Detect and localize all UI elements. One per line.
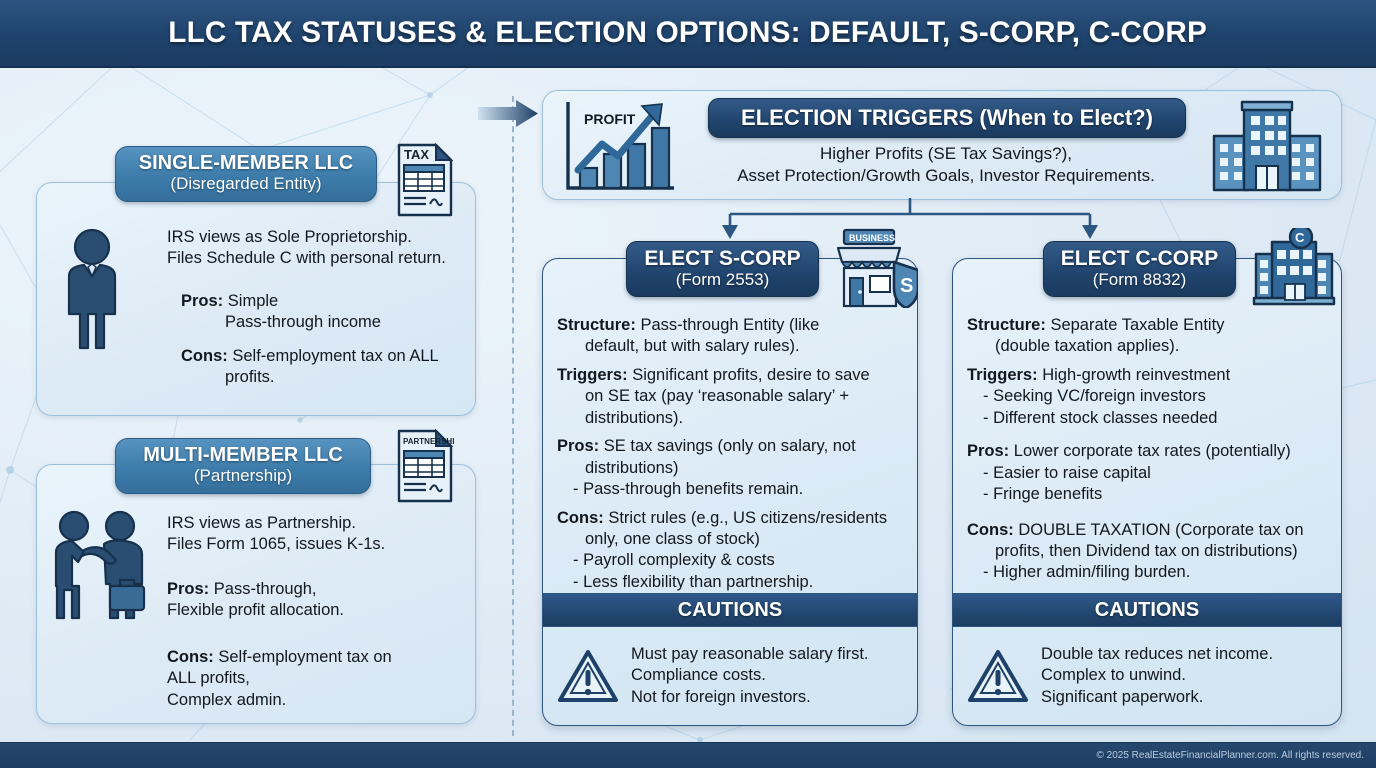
storefront-sign-label: BUSINESS (849, 233, 895, 243)
elect-c-corp-header: ELECT C-CORP (Form 8832) (1043, 241, 1236, 297)
c-corp-pros-line2: - Easier to raise capital (995, 463, 1151, 484)
s-corp-caution-2: Compliance costs. (631, 665, 869, 686)
c-corp-structure-line2: (double taxation applies). (995, 336, 1179, 357)
handshake-icon (48, 508, 158, 628)
elect-s-corp-card[interactable]: Structure: Pass-through Entity (like def… (542, 258, 918, 726)
s-corp-pros-row: Pros: SE tax savings (only on salary, no… (557, 436, 913, 500)
multi-member-desc-line1: IRS views as Partnership. (167, 513, 467, 534)
s-corp-cons-line4: - Less flexibility than partnership. (585, 572, 813, 593)
c-corp-cautions-title: CAUTIONS (1095, 599, 1199, 622)
single-member-pros-line2: Pass-through income (167, 312, 472, 333)
flow-arrow-right-icon (478, 98, 542, 132)
c-corp-triggers-line1: High-growth reinvestment (1042, 366, 1230, 384)
c-corp-structure-label: Structure: (967, 316, 1046, 334)
multi-member-subtitle: (Partnership) (194, 466, 292, 486)
c-corp-triggers-label: Triggers: (967, 366, 1038, 384)
c-corp-caution-1: Double tax reduces net income. (1041, 644, 1273, 665)
triggers-line1: Higher Profits (SE Tax Savings?), (711, 143, 1181, 165)
c-corp-triggers-line3: - Different stock classes needed (995, 408, 1217, 429)
c-corp-pros-label: Pros: (967, 442, 1009, 460)
s-corp-triggers-label: Triggers: (557, 366, 628, 384)
s-corp-cons-line3: - Payroll complexity & costs (585, 550, 775, 571)
elect-c-corp-card[interactable]: Structure: Separate Taxable Entity (doub… (952, 258, 1342, 726)
c-corp-pros-line3: - Fringe benefits (995, 484, 1102, 505)
multi-member-title: MULTI-MEMBER LLC (143, 445, 343, 466)
s-corp-cautions-title: CAUTIONS (678, 599, 782, 622)
tax-document-icon: TAX (396, 142, 454, 218)
c-corp-content: Structure: Separate Taxable Entity (doub… (967, 315, 1337, 591)
c-corp-subtitle: (Form 8832) (1093, 270, 1187, 290)
page-title: LLC TAX STATUSES & ELECTION OPTIONS: DEF… (169, 16, 1208, 50)
office-building-icon (1208, 100, 1326, 192)
s-corp-structure-label: Structure: (557, 316, 636, 334)
single-member-cons-line2: profits. (167, 367, 477, 388)
business-storefront-shield-s-icon: BUSINESS S (832, 228, 918, 308)
multi-member-cons-label: Cons: (167, 648, 214, 666)
s-corp-cons-line2: only, one class of stock) (585, 529, 760, 550)
c-corp-cautions-header: CAUTIONS (953, 593, 1341, 627)
s-corp-shield-letter: S (900, 275, 913, 297)
s-corp-triggers-line3: distributions). (585, 408, 683, 429)
elect-s-corp-header: ELECT S-CORP (Form 2553) (626, 241, 819, 297)
s-corp-triggers-line2: on SE tax (pay ‘reasonable salary’ + (585, 386, 849, 407)
c-corp-structure-row: Structure: Separate Taxable Entity (doub… (967, 315, 1337, 358)
s-corp-triggers-row: Triggers: Significant profits, desire to… (557, 365, 913, 429)
corporate-building-c-icon: C (1252, 228, 1336, 306)
single-member-cons-label: Cons: (181, 347, 228, 365)
c-corp-cons-line1: DOUBLE TAXATION (Corporate tax on (1018, 521, 1303, 539)
s-corp-subtitle: (Form 2553) (676, 270, 770, 290)
partnership-document-icon: PARTNERSHIP (396, 428, 454, 504)
c-corp-cons-line3: - Higher admin/filing burden. (995, 562, 1190, 583)
multi-member-cons: Cons: Self-employment tax on ALL profits… (167, 647, 472, 711)
multi-member-cons-line1: Self-employment tax on (218, 648, 391, 666)
multi-member-pros-line1: Pass-through, (214, 580, 317, 598)
c-corp-pros-line1: Lower corporate tax rates (potentially) (1014, 442, 1291, 460)
multi-member-cons-line3: Complex admin. (167, 690, 472, 711)
c-corp-title: ELECT C-CORP (1061, 248, 1219, 270)
s-corp-caution-3: Not for foreign investors. (631, 687, 869, 708)
s-corp-cautions-list: Must pay reasonable salary first. Compli… (631, 644, 869, 708)
s-corp-cons-row: Cons: Strict rules (e.g., US citizens/re… (557, 508, 913, 594)
s-corp-triggers-line1: Significant profits, desire to save (632, 366, 870, 384)
multi-member-pros-line2: Flexible profit allocation. (167, 600, 467, 621)
c-corp-structure-line1: Separate Taxable Entity (1050, 316, 1224, 334)
single-member-title: SINGLE-MEMBER LLC (139, 153, 353, 174)
page-header: LLC TAX STATUSES & ELECTION OPTIONS: DEF… (0, 0, 1376, 68)
single-member-pros-label: Pros: (181, 292, 223, 310)
s-corp-content: Structure: Pass-through Entity (like def… (557, 315, 913, 600)
profit-chart-label: PROFIT (584, 111, 636, 127)
single-person-icon (56, 228, 128, 352)
c-corp-cons-row: Cons: DOUBLE TAXATION (Corporate tax on … (967, 520, 1337, 584)
s-corp-pros-line3: - Pass-through benefits remain. (585, 479, 803, 500)
election-triggers-header: ELECTION TRIGGERS (When to Elect?) (708, 98, 1186, 138)
s-corp-cautions-body: Must pay reasonable salary first. Compli… (543, 627, 917, 725)
s-corp-title: ELECT S-CORP (644, 248, 800, 270)
single-member-subtitle: (Disregarded Entity) (170, 174, 321, 194)
c-corp-cons-label: Cons: (967, 521, 1014, 539)
c-corp-cautions-body: Double tax reduces net income. Complex t… (953, 627, 1341, 725)
s-corp-cons-label: Cons: (557, 509, 604, 527)
c-corp-caution-2: Complex to unwind. (1041, 665, 1273, 686)
multi-member-pros-label: Pros: (167, 580, 209, 598)
triggers-description: Higher Profits (SE Tax Savings?), Asset … (711, 143, 1181, 187)
election-triggers-title: ELECTION TRIGGERS (When to Elect?) (741, 105, 1153, 131)
single-member-llc-header: SINGLE-MEMBER LLC (Disregarded Entity) (115, 146, 377, 202)
multi-member-desc-line2: Files Form 1065, issues K-1s. (167, 534, 467, 555)
s-corp-structure-line1: Pass-through Entity (like (640, 316, 819, 334)
c-corp-cons-line2: profits, then Dividend tax on distributi… (995, 541, 1298, 562)
s-corp-structure-line2: default, but with salary rules). (585, 336, 800, 357)
single-member-description: IRS views as Sole Proprietorship. Files … (167, 227, 467, 270)
s-corp-cautions-header: CAUTIONS (543, 593, 917, 627)
s-corp-caution-1: Must pay reasonable salary first. (631, 644, 869, 665)
s-corp-structure-row: Structure: Pass-through Entity (like def… (557, 315, 913, 358)
c-corp-triggers-row: Triggers: High-growth reinvestment - See… (967, 365, 1337, 429)
s-corp-pros-label: Pros: (557, 437, 599, 455)
single-member-cons: Cons: Self-employment tax on ALL profits… (167, 346, 477, 389)
page-footer: © 2025 RealEstateFinancialPlanner.com. A… (0, 742, 1376, 768)
s-corp-cons-line1: Strict rules (e.g., US citizens/resident… (608, 509, 887, 527)
footer-copyright: © 2025 RealEstateFinancialPlanner.com. A… (1096, 750, 1376, 761)
multi-member-description: IRS views as Partnership. Files Form 106… (167, 513, 467, 556)
c-corp-badge-letter: C (1295, 230, 1305, 245)
single-member-desc-line2: Files Schedule C with personal return. (167, 248, 467, 269)
c-corp-cautions-list: Double tax reduces net income. Complex t… (1041, 644, 1273, 708)
single-member-pros-line1: Simple (228, 292, 278, 310)
triggers-line2: Asset Protection/Growth Goals, Investor … (711, 165, 1181, 187)
profit-growth-chart-icon: PROFIT (556, 98, 680, 194)
single-member-pros: Pros: Simple Pass-through income (167, 291, 472, 334)
multi-member-cons-line2: ALL profits, (167, 668, 472, 689)
warning-triangle-icon (557, 648, 619, 704)
svg-text:TAX: TAX (404, 147, 429, 162)
c-corp-triggers-line2: - Seeking VC/foreign investors (995, 386, 1206, 407)
multi-member-llc-header: MULTI-MEMBER LLC (Partnership) (115, 438, 371, 494)
column-divider (512, 96, 514, 736)
s-corp-pros-line2: distributions) (585, 458, 679, 479)
single-member-desc-line1: IRS views as Sole Proprietorship. (167, 227, 467, 248)
partnership-doc-label: PARTNERSHIP (403, 437, 454, 446)
c-corp-pros-row: Pros: Lower corporate tax rates (potenti… (967, 441, 1337, 505)
single-member-cons-line1: Self-employment tax on ALL (232, 347, 438, 365)
warning-triangle-icon (967, 648, 1029, 704)
c-corp-caution-3: Significant paperwork. (1041, 687, 1273, 708)
s-corp-pros-line1: SE tax savings (only on salary, not (604, 437, 856, 455)
multi-member-pros: Pros: Pass-through, Flexible profit allo… (167, 579, 467, 622)
